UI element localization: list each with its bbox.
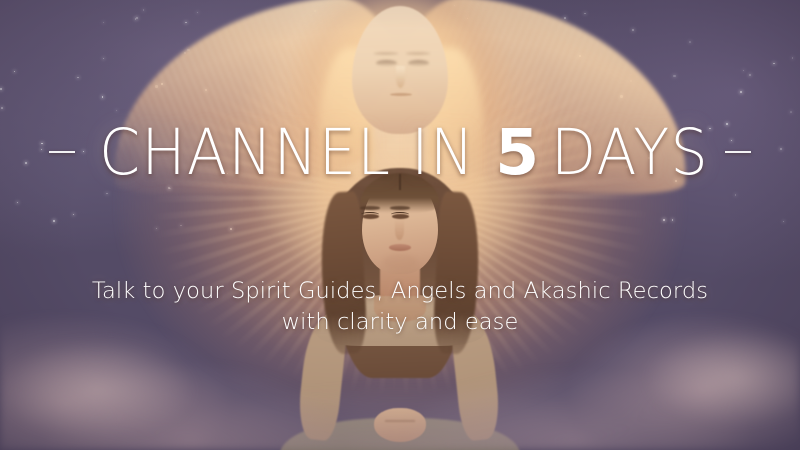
subtitle: Talk to your Spirit Guides, Angels and A… <box>0 276 800 338</box>
page-title: CHANNEL IN 5 DAYS <box>85 121 715 184</box>
vignette <box>0 0 800 450</box>
subtitle-line-1: Talk to your Spirit Guides, Angels and A… <box>0 276 800 307</box>
title-part-one: CHANNEL IN <box>99 121 475 184</box>
title-highlight-number: 5 <box>489 121 545 184</box>
subtitle-line-2: with clarity and ease <box>0 307 800 338</box>
title-row: CHANNEL IN 5 DAYS <box>0 112 800 192</box>
title-rule-left <box>49 151 75 153</box>
title-rule-right <box>725 151 751 153</box>
promo-banner: CHANNEL IN 5 DAYS Talk to your Spirit Gu… <box>0 0 800 450</box>
title-part-two: DAYS <box>551 121 709 184</box>
